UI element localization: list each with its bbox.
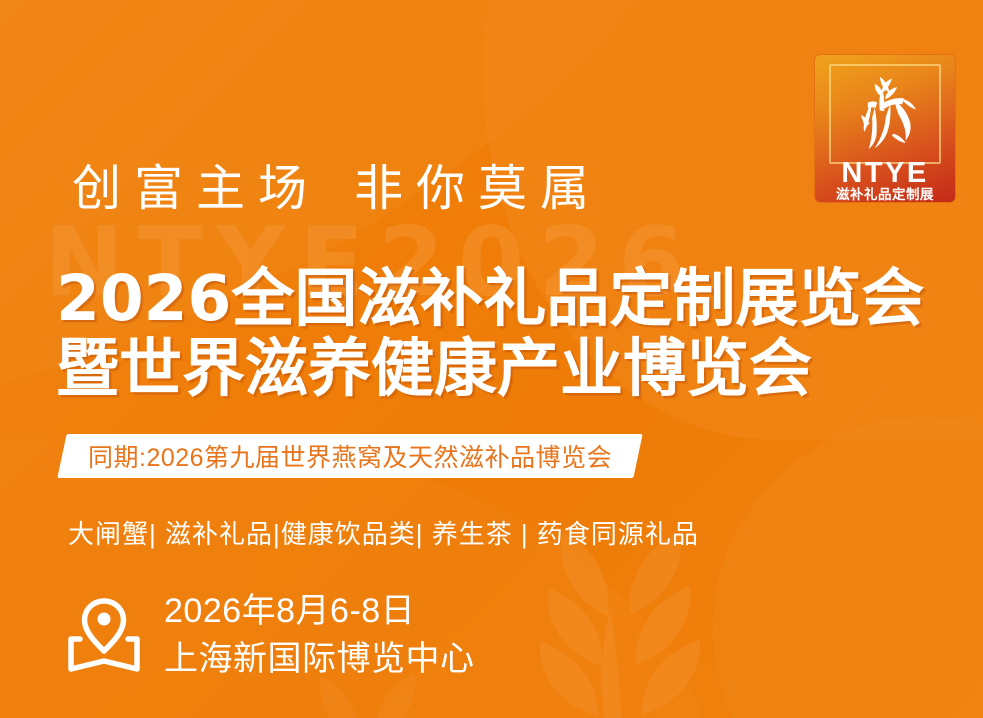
tagline-part-1: 创富主场 [72, 162, 320, 216]
event-venue: 上海新国际博览中心 [164, 636, 475, 682]
event-info-lines: 2026年8月6-8日 上海新国际博览中心 [164, 588, 475, 682]
title-line-2: 暨世界滋养健康产业博览会 [56, 338, 924, 400]
title-line-1: 2026全国滋补礼品定制展览会 [56, 268, 924, 330]
map-pin-icon [66, 593, 142, 677]
tagline-part-2: 非你莫属 [354, 162, 602, 216]
tagline: 创富主场非你莫属 [72, 163, 602, 217]
event-info: 2026年8月6-8日 上海新国际博览中心 [66, 588, 475, 682]
logo-subtitle-text: 滋补礼品定制展 [815, 188, 955, 202]
logo-brand-text: NTYE [815, 159, 955, 188]
page-title: 2026全国滋补礼品定制展览会 暨世界滋养健康产业博览会 [56, 268, 924, 400]
concurrent-event-text: 同期:2026第九届世界燕窝及天然滋补品博览会 [88, 438, 612, 474]
ntye-logo[interactable]: NTYE 滋补礼品定制展 [815, 55, 955, 202]
event-date: 2026年8月6-8日 [164, 588, 475, 634]
category-list: 大闸蟹| 滋补礼品|健康饮品类| 养生茶 | 药食同源礼品 [68, 514, 699, 551]
logo-li-character-icon [815, 67, 955, 159]
exhibition-poster: NTYE2026 [0, 0, 983, 718]
concurrent-event-banner: 同期:2026第九届世界燕窝及天然滋补品博览会 [57, 434, 642, 478]
